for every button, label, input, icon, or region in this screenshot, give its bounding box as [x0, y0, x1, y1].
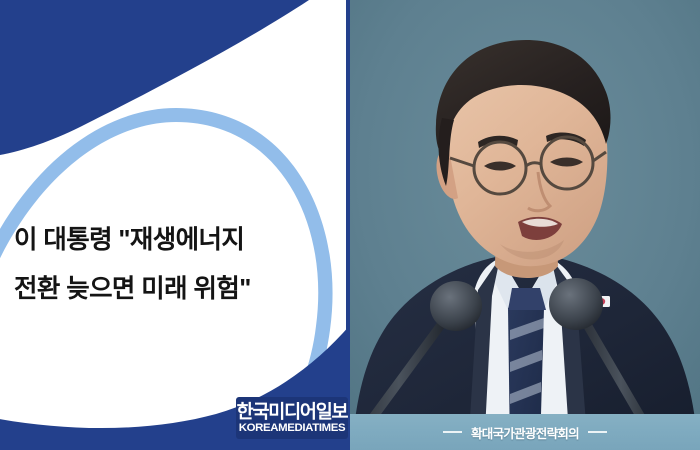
- photo-panel: 확대국가관광전략회의: [350, 0, 700, 450]
- publisher-logo-english: KOREAMEDIATIMES: [239, 422, 346, 435]
- necktie-knot: [508, 288, 546, 310]
- headline-text-block: 이 대통령 "재생에너지 전환 늦으면 미래 위험": [14, 216, 340, 314]
- headline-line-2: 전환 늦으면 미래 위험": [14, 265, 340, 314]
- news-thumbnail-card: 이 대통령 "재생에너지 전환 늦으면 미래 위험" 한국미디어일보 KOREA…: [0, 0, 700, 450]
- event-caption-banner: 확대국가관광전략회의: [350, 414, 700, 450]
- publisher-logo: 한국미디어일보 KOREAMEDIATIMES: [236, 397, 348, 439]
- caption-dash-right: [588, 431, 607, 433]
- publisher-logo-korean: 한국미디어일보: [237, 402, 348, 422]
- speaker-photograph: [350, 0, 700, 450]
- caption-text: 확대국가관광전략회의: [471, 423, 579, 442]
- headline-panel: 이 대통령 "재생에너지 전환 늦으면 미래 위험" 한국미디어일보 KOREA…: [0, 0, 350, 450]
- caption-dash-left: [443, 431, 462, 433]
- headline-line-1: 이 대통령 "재생에너지: [14, 216, 340, 265]
